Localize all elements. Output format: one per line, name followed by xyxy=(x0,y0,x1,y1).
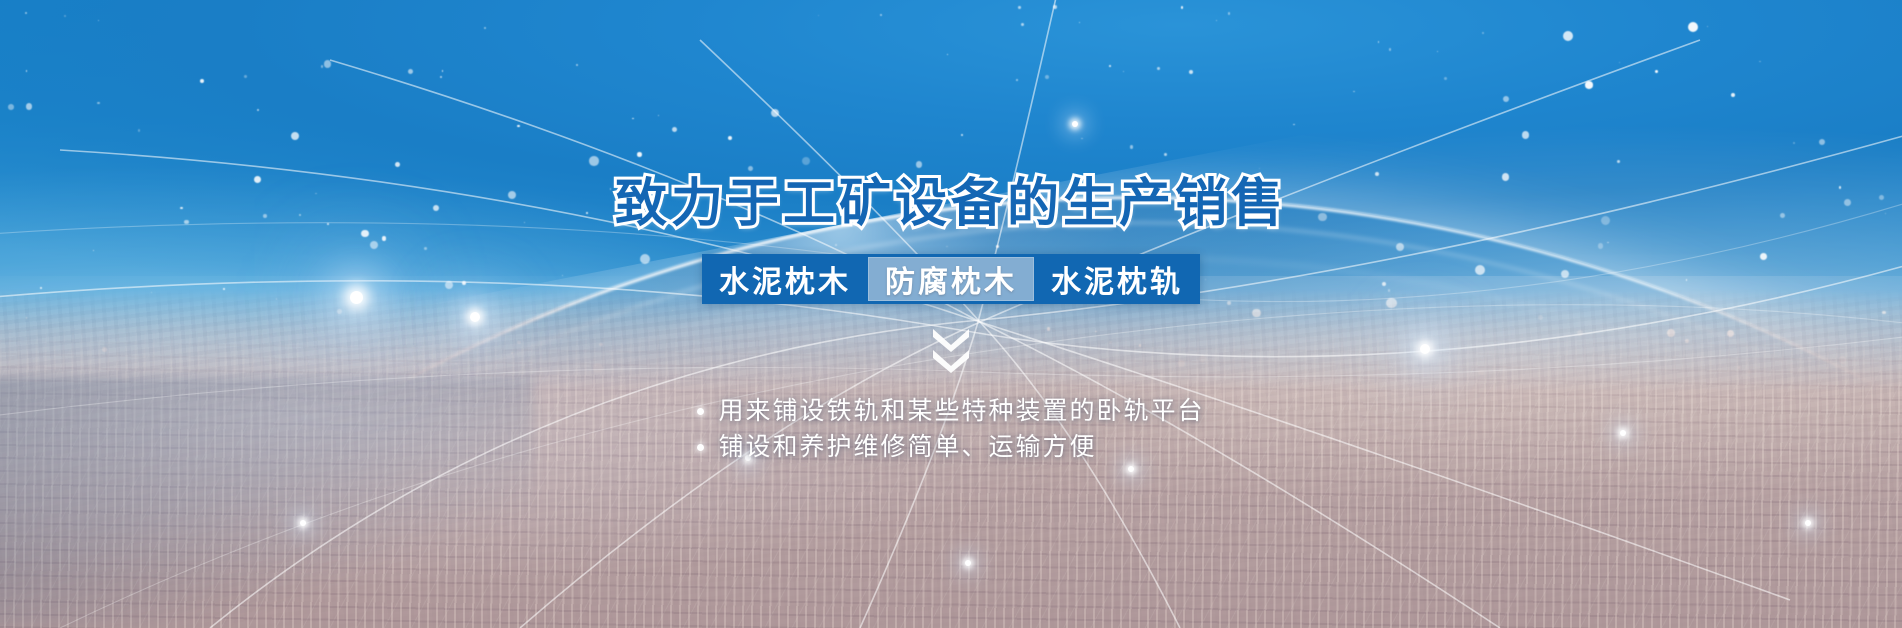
product-badge-cement-rail[interactable]: 水泥枕轨 xyxy=(1034,254,1200,304)
feature-bullet-list: 用来铺设铁轨和某些特种装置的卧轨平台 铺设和养护维修简单、运输方便 xyxy=(697,393,1204,466)
list-item: 用来铺设铁轨和某些特种装置的卧轨平台 xyxy=(697,393,1204,429)
hero-banner: 致力于工矿设备的生产销售 水泥枕木 防腐枕木 水泥枕轨 用来铺设铁轨和某些特种装… xyxy=(0,0,1902,628)
product-badge-group: 水泥枕木 防腐枕木 水泥枕轨 xyxy=(702,254,1200,304)
list-item-label: 用来铺设铁轨和某些特种装置的卧轨平台 xyxy=(718,393,1204,429)
page-title: 致力于工矿设备的生产销售 xyxy=(615,178,1287,230)
list-item-label: 铺设和养护维修简单、运输方便 xyxy=(718,429,1096,465)
banner-content: 致力于工矿设备的生产销售 水泥枕木 防腐枕木 水泥枕轨 用来铺设铁轨和某些特种装… xyxy=(0,0,1902,628)
product-badge-cement-sleeper[interactable]: 水泥枕木 xyxy=(702,254,868,304)
list-item: 铺设和养护维修简单、运输方便 xyxy=(697,429,1096,465)
product-badge-antiseptic-sleeper[interactable]: 防腐枕木 xyxy=(868,257,1034,301)
double-chevron-down-icon xyxy=(929,326,973,373)
bullet-dot-icon xyxy=(697,444,704,451)
bullet-dot-icon xyxy=(697,408,704,415)
